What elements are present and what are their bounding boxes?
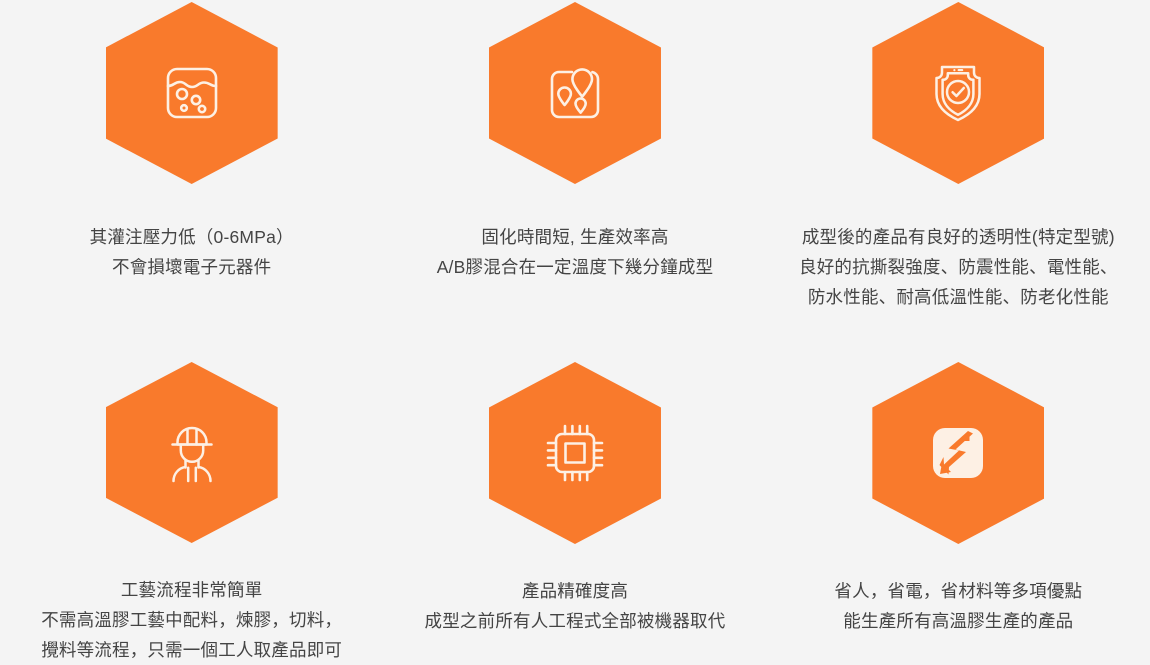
lightning-bolt-icon xyxy=(922,417,994,489)
caption-line: 工藝流程非常簡單 xyxy=(41,575,342,605)
feature-card-2: 固化時間短, 生產效率高 A/B膠混合在一定溫度下幾分鐘成型 xyxy=(383,0,766,360)
feature-card-1: 其灌注壓力低（0-6MPa） 不會損壞電子元器件 xyxy=(0,0,383,360)
feature-card-3: 成型後的產品有良好的透明性(特定型號) 良好的抗撕裂強度、防震性能、電性能、 防… xyxy=(767,0,1150,360)
feature-caption-3: 成型後的產品有良好的透明性(特定型號) 良好的抗撕裂強度、防震性能、電性能、 防… xyxy=(799,222,1118,312)
feature-caption-1: 其灌注壓力低（0-6MPa） 不會損壞電子元器件 xyxy=(90,222,294,282)
feature-caption-6: 省人，省電，省材料等多項優點 能生產所有高溫膠生產的產品 xyxy=(834,576,1082,636)
feature-caption-4: 工藝流程非常簡單 不需高溫膠工藝中配料，煉膠，切料， 攪料等流程，只需一個工人取… xyxy=(41,575,342,665)
feature-card-6: 省人，省電，省材料等多項優點 能生產所有高溫膠生產的產品 xyxy=(767,360,1150,665)
liquid-container-icon xyxy=(156,57,228,129)
caption-line: 其灌注壓力低（0-6MPa） xyxy=(90,222,294,252)
feature-card-5: 產品精確度高 成型之前所有人工程式全部被機器取代 xyxy=(383,360,766,665)
caption-line: 固化時間短, 生產效率高 xyxy=(437,222,714,252)
hexagon-badge-4 xyxy=(106,362,278,543)
caption-line: 防水性能、耐高低溫性能、防老化性能 xyxy=(799,282,1118,312)
feature-card-4: 工藝流程非常簡單 不需高溫膠工藝中配料，煉膠，切料， 攪料等流程，只需一個工人取… xyxy=(0,360,383,665)
cpu-chip-icon xyxy=(539,417,611,489)
caption-line: 成型之前所有人工程式全部被機器取代 xyxy=(425,606,726,636)
caption-line: 良好的抗撕裂強度、防震性能、電性能、 xyxy=(799,252,1118,282)
hexagon-badge-3 xyxy=(872,2,1044,184)
hexagon-badge-5 xyxy=(489,362,661,544)
hexagon-badge-6 xyxy=(872,362,1044,544)
caption-line: 產品精確度高 xyxy=(425,576,726,606)
caption-line: A/B膠混合在一定溫度下幾分鐘成型 xyxy=(437,252,714,282)
caption-line: 省人，省電，省材料等多項優點 xyxy=(834,576,1082,606)
caption-line: 不會損壞電子元器件 xyxy=(90,252,294,282)
feature-grid: 其灌注壓力低（0-6MPa） 不會損壞電子元器件 固化時間短, 生產效率高 A/… xyxy=(0,0,1150,665)
feature-caption-2: 固化時間短, 生產效率高 A/B膠混合在一定溫度下幾分鐘成型 xyxy=(437,222,714,282)
caption-line: 攪料等流程，只需一個工人取產品即可 xyxy=(41,635,342,665)
hexagon-badge-2 xyxy=(489,2,661,184)
shield-check-icon xyxy=(922,57,994,129)
feature-caption-5: 產品精確度高 成型之前所有人工程式全部被機器取代 xyxy=(425,576,726,636)
worker-helmet-icon xyxy=(156,417,228,489)
caption-line: 不需高溫膠工藝中配料，煉膠，切料， xyxy=(41,605,342,635)
caption-line: 能生產所有高溫膠生產的產品 xyxy=(834,606,1082,636)
caption-line: 成型後的產品有良好的透明性(特定型號) xyxy=(799,222,1118,252)
mold-droplets-icon xyxy=(539,57,611,129)
hexagon-badge-1 xyxy=(106,2,278,184)
